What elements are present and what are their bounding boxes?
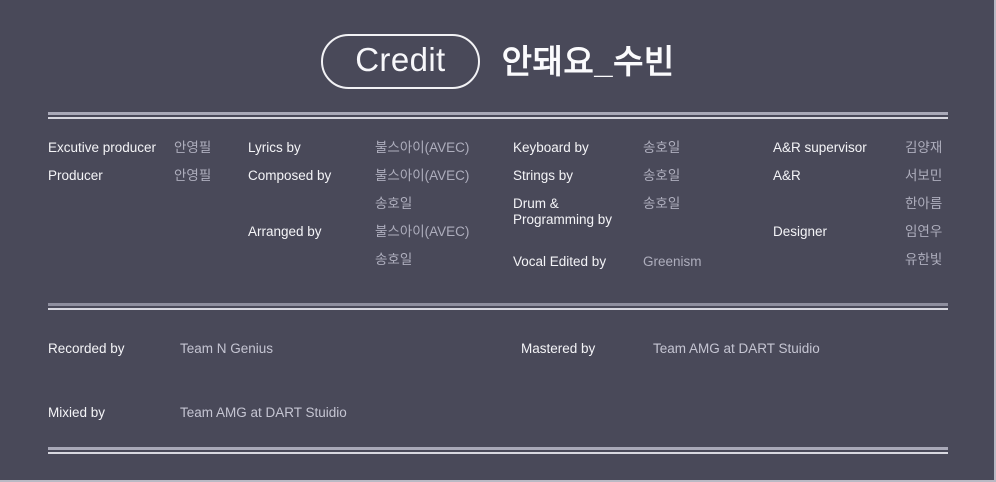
credit-label: Lyrics by (248, 140, 375, 156)
credit-value: 유한빛 (905, 252, 942, 268)
divider-top (48, 112, 948, 119)
credits-column-2: Keyboard by 송호일 Strings by 송호일 Drum & Pr… (513, 140, 773, 282)
credit-value: 송호일 (375, 196, 412, 212)
credit-label: Producer (48, 168, 174, 184)
credit-row: Drum & Programming by 송호일 (513, 196, 773, 232)
credit-label: Drum & Programming by (513, 196, 643, 228)
credit-row: 유한빛 (773, 252, 988, 280)
credit-label: Excutive producer (48, 140, 174, 156)
credit-value: 송호일 (375, 252, 412, 268)
production-value: Team AMG at DART Stuidio (653, 341, 820, 357)
credit-row: 송호일 (248, 196, 513, 224)
production-row-recorded: Recorded by Team N Genius (48, 341, 273, 357)
credit-row: 송호일 (248, 252, 513, 280)
credit-row: A&R supervisor 김양재 (773, 140, 988, 168)
credit-label: Strings by (513, 168, 643, 184)
credit-value: 송호일 (643, 168, 680, 184)
divider-middle (48, 303, 948, 310)
credit-value: 송호일 (643, 196, 680, 212)
production-label: Mixied by (48, 405, 180, 421)
credit-value: 한아름 (905, 196, 942, 212)
credit-row: Strings by 송호일 (513, 168, 773, 196)
production-label: Mastered by (521, 341, 653, 357)
credit-row: Arranged by 불스아이(AVEC) (248, 224, 513, 252)
divider-line-thin (48, 308, 948, 310)
divider-line-thin (48, 117, 948, 119)
credit-row: Keyboard by 송호일 (513, 140, 773, 168)
credit-value: 서보민 (905, 168, 942, 184)
credit-label: Designer (773, 224, 905, 240)
credit-row: Designer 임연우 (773, 224, 988, 252)
credit-page: Credit 안돼요_수빈 Excutive producer 안영필 Prod… (0, 0, 996, 482)
song-title: 안돼요_수빈 (502, 45, 675, 78)
credit-row: Lyrics by 불스아이(AVEC) (248, 140, 513, 168)
credit-label: Arranged by (248, 224, 375, 240)
production-value: Team N Genius (180, 341, 273, 357)
credit-value: 송호일 (643, 140, 680, 156)
production-row-mixed: Mixied by Team AMG at DART Stuidio (48, 405, 347, 421)
credit-row: Vocal Edited by Greenism (513, 254, 773, 282)
credit-row-spacer (513, 232, 773, 254)
credit-label: Composed by (248, 168, 375, 184)
production-label: Recorded by (48, 341, 180, 357)
credit-row: A&R 서보민 (773, 168, 988, 196)
credit-badge: Credit (321, 34, 479, 89)
credit-value: 김양재 (905, 140, 942, 156)
divider-line-thin (48, 452, 948, 454)
credit-value: 안영필 (174, 140, 211, 156)
credit-label: Keyboard by (513, 140, 643, 156)
credits-column-0: Excutive producer 안영필 Producer 안영필 (48, 140, 248, 196)
credit-value: 안영필 (174, 168, 211, 184)
credit-value: 임연우 (905, 224, 942, 240)
credits-column-1: Lyrics by 불스아이(AVEC) Composed by 불스아이(AV… (248, 140, 513, 280)
divider-bottom (48, 447, 948, 454)
credit-label: Vocal Edited by (513, 254, 643, 270)
credit-row: Excutive producer 안영필 (48, 140, 248, 168)
credit-value: Greenism (643, 254, 702, 270)
credit-row: Composed by 불스아이(AVEC) (248, 168, 513, 196)
credits-grid: Excutive producer 안영필 Producer 안영필 Lyric… (0, 140, 996, 295)
production-row-mastered: Mastered by Team AMG at DART Stuidio (521, 341, 820, 357)
credit-value: 불스아이(AVEC) (375, 224, 469, 240)
credit-row: Producer 안영필 (48, 168, 248, 196)
title-row: Credit 안돼요_수빈 (0, 34, 996, 89)
credit-label: A&R (773, 168, 905, 184)
credit-row: 한아름 (773, 196, 988, 224)
credit-value: 불스아이(AVEC) (375, 140, 469, 156)
credit-value: 불스아이(AVEC) (375, 168, 469, 184)
production-value: Team AMG at DART Stuidio (180, 405, 347, 421)
credits-column-3: A&R supervisor 김양재 A&R 서보민 한아름 Designer … (773, 140, 988, 280)
credit-label: A&R supervisor (773, 140, 905, 156)
